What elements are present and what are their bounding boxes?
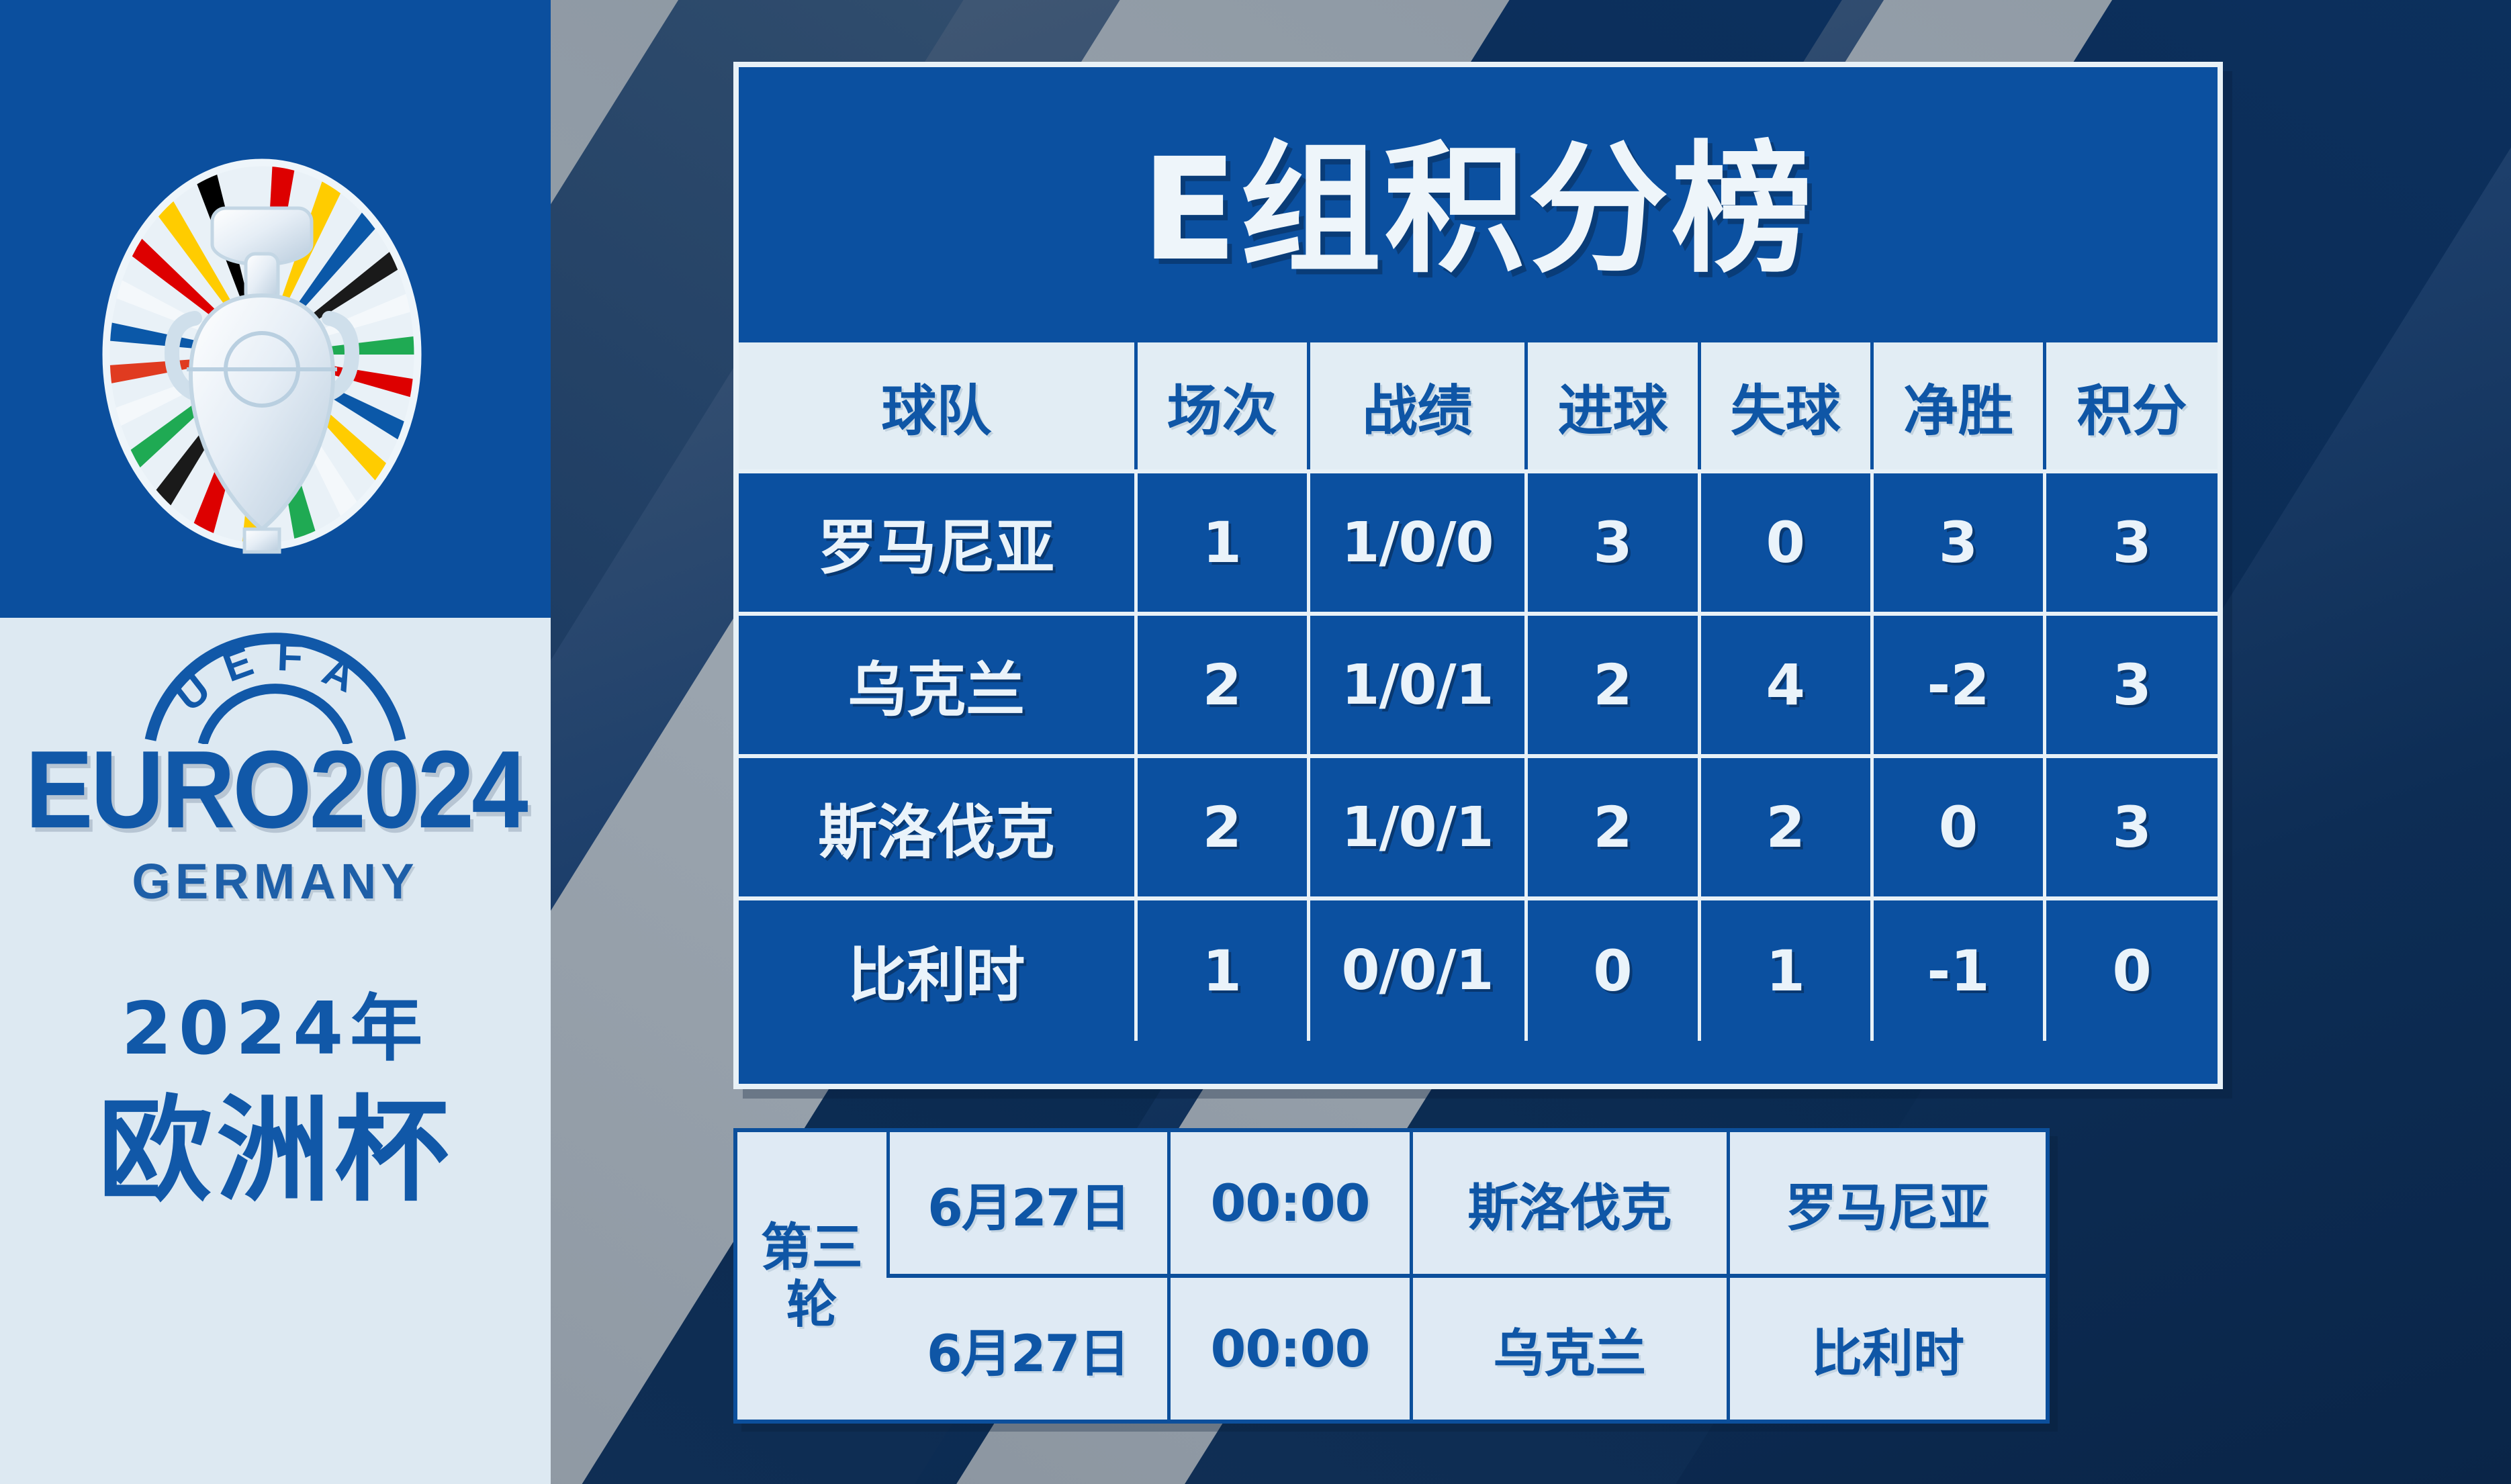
fixture-away-team: 比利时 (1729, 1276, 2046, 1420)
cell-record: 1/0/1 (1308, 614, 1526, 756)
cell-played: 1 (1136, 471, 1308, 614)
uefa-logo-icon: U E F A (128, 631, 423, 744)
svg-text:U: U (167, 665, 219, 721)
cell-record: 0/0/1 (1308, 898, 1526, 1041)
cell-ga: 0 (1699, 471, 1872, 614)
fixture-time: 00:00 (1169, 1132, 1411, 1276)
fixtures-row: 6月27日 00:00 乌克兰 比利时 (737, 1276, 2046, 1420)
svg-text:A: A (316, 647, 362, 702)
cell-played: 2 (1136, 614, 1308, 756)
cn-event-label: 欧洲杯 (0, 1091, 551, 1211)
col-header-ga: 失球 (1699, 342, 1872, 471)
cell-gd: -2 (1872, 614, 2044, 756)
col-header-played: 场次 (1136, 342, 1308, 471)
cell-played: 2 (1136, 756, 1308, 898)
group-e-standings-panel: E组积分榜 球队 场次 战绩 进球 失球 净胜 积分 罗马尼亚 1 1/0/0 … (733, 62, 2223, 1089)
standings-header-row: 球队 场次 战绩 进球 失球 净胜 积分 (739, 342, 2218, 471)
cell-record: 1/0/1 (1308, 756, 1526, 898)
table-row: 乌克兰 2 1/0/1 2 4 -2 3 (739, 614, 2218, 756)
cell-played: 1 (1136, 898, 1308, 1041)
col-header-team: 球队 (739, 342, 1136, 471)
cell-points: 3 (2045, 471, 2218, 614)
cell-ga: 1 (1699, 898, 1872, 1041)
uefa-euro-wordmark: U E F A EURO2024 GERMANY 2024年 欧洲杯 (0, 631, 551, 1211)
round-label: 第三轮 (737, 1132, 888, 1420)
cn-year-label: 2024年 (0, 970, 551, 1075)
col-header-gf: 进球 (1526, 342, 1699, 471)
cell-team: 比利时 (739, 898, 1136, 1041)
cell-points: 3 (2045, 614, 2218, 756)
cell-gd: 0 (1872, 756, 2044, 898)
fixture-time: 00:00 (1169, 1276, 1411, 1420)
fixture-home-team: 斯洛伐克 (1411, 1132, 1728, 1276)
cell-gf: 2 (1526, 614, 1699, 756)
table-row: 斯洛伐克 2 1/0/1 2 2 0 3 (739, 756, 2218, 898)
page-title: E组积分榜 (739, 67, 2218, 342)
cell-gf: 0 (1526, 898, 1699, 1041)
cell-team: 乌克兰 (739, 614, 1136, 756)
col-header-record: 战绩 (1308, 342, 1526, 471)
table-row: 罗马尼亚 1 1/0/0 3 0 3 3 (739, 471, 2218, 614)
cell-gd: -1 (1872, 898, 2044, 1041)
fixture-home-team: 乌克兰 (1411, 1276, 1728, 1420)
table-row: 比利时 1 0/0/1 0 1 -1 0 (739, 898, 2218, 1041)
host-country-label: GERMANY (0, 853, 551, 910)
standings-table: 球队 场次 战绩 进球 失球 净胜 积分 罗马尼亚 1 1/0/0 3 0 3 … (739, 342, 2218, 1041)
cell-ga: 2 (1699, 756, 1872, 898)
cell-ga: 4 (1699, 614, 1872, 756)
cell-points: 0 (2045, 898, 2218, 1041)
cell-record: 1/0/0 (1308, 471, 1526, 614)
fixtures-table: 第三轮 6月27日 00:00 斯洛伐克 罗马尼亚 6月27日 00:00 乌克… (737, 1132, 2046, 1420)
cell-team: 斯洛伐克 (739, 756, 1136, 898)
euro-2024-trophy-emblem-icon (101, 153, 423, 556)
fixture-away-team: 罗马尼亚 (1729, 1132, 2046, 1276)
cell-gf: 3 (1526, 471, 1699, 614)
col-header-points: 积分 (2045, 342, 2218, 471)
round-three-fixtures-panel: 第三轮 6月27日 00:00 斯洛伐克 罗马尼亚 6月27日 00:00 乌克… (733, 1128, 2050, 1424)
brand-sidebar: U E F A EURO2024 GERMANY 2024年 欧洲杯 (0, 0, 551, 1484)
svg-text:F: F (277, 633, 304, 680)
fixture-date: 6月27日 (888, 1276, 1169, 1420)
fixture-date: 6月27日 (888, 1132, 1169, 1276)
euro-2024-wordmark: EURO2024 (0, 735, 551, 845)
col-header-gd: 净胜 (1872, 342, 2044, 471)
cell-gf: 2 (1526, 756, 1699, 898)
fixtures-row: 第三轮 6月27日 00:00 斯洛伐克 罗马尼亚 (737, 1132, 2046, 1276)
cell-points: 3 (2045, 756, 2218, 898)
cell-gd: 3 (1872, 471, 2044, 614)
cell-team: 罗马尼亚 (739, 471, 1136, 614)
